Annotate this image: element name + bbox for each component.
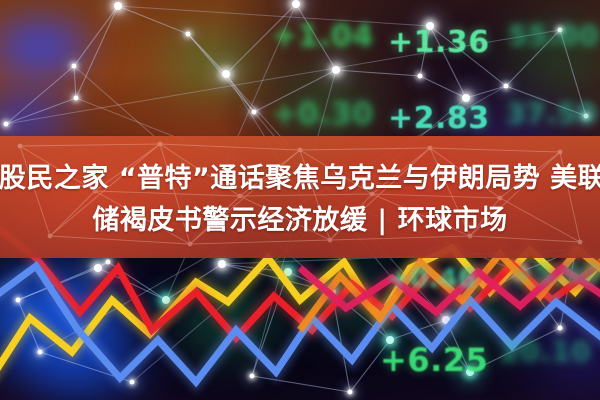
band-network-link (372, 194, 470, 236)
band-network-link (560, 152, 580, 242)
band-network-node (18, 144, 23, 149)
band-network-node (328, 238, 333, 243)
band-network-link (50, 236, 190, 244)
band-network-link (240, 150, 300, 196)
band-network-link (500, 198, 580, 242)
band-network-node (498, 196, 503, 201)
band-network-link (95, 191, 190, 244)
band-network-link (190, 150, 300, 244)
band-network-link (500, 152, 560, 198)
band-network-node (158, 142, 163, 147)
band-network-node (48, 234, 53, 239)
band-network-link (330, 236, 470, 240)
band-network-link (300, 148, 430, 150)
band-network-node (238, 194, 243, 199)
band-network-link (20, 146, 95, 191)
band-network-link (470, 236, 580, 242)
ticker-quote: +0.46 (388, 266, 476, 292)
headline-band-network (0, 136, 600, 258)
news-banner-image: +1.04+1.3655.00+0.30+2.8337.50 +0.46+5.9… (0, 0, 600, 400)
band-network-node (298, 148, 303, 153)
band-network-link (50, 191, 95, 236)
band-network-link (240, 196, 330, 240)
band-network-node (558, 150, 563, 155)
band-network-link (50, 144, 160, 236)
band-network-node (428, 146, 433, 151)
ticker-quote: 20.10 (500, 338, 591, 366)
band-network-link (372, 194, 500, 198)
band-network-link (160, 144, 300, 150)
band-network-node (468, 234, 473, 239)
band-network-link (95, 144, 160, 191)
band-network-link (190, 196, 240, 244)
band-network-link (470, 198, 500, 236)
band-network-link (430, 148, 560, 152)
band-network-node (370, 192, 375, 197)
band-network-node (93, 189, 98, 194)
band-network-node (188, 242, 193, 247)
band-network-link (240, 194, 372, 196)
band-network-link (372, 148, 430, 194)
band-network-link (20, 144, 160, 146)
band-network-link (330, 194, 372, 240)
band-network-node (578, 240, 583, 245)
band-network-link (430, 148, 470, 236)
band-network-link (160, 144, 240, 196)
ticker-quote: +6.25 (380, 344, 488, 376)
band-network-link (20, 146, 50, 236)
ticker-quote: +5.90 (512, 262, 600, 288)
band-network-link (430, 148, 500, 198)
band-network-link (300, 150, 372, 194)
band-network-link (190, 240, 330, 244)
band-network-link (95, 191, 240, 196)
